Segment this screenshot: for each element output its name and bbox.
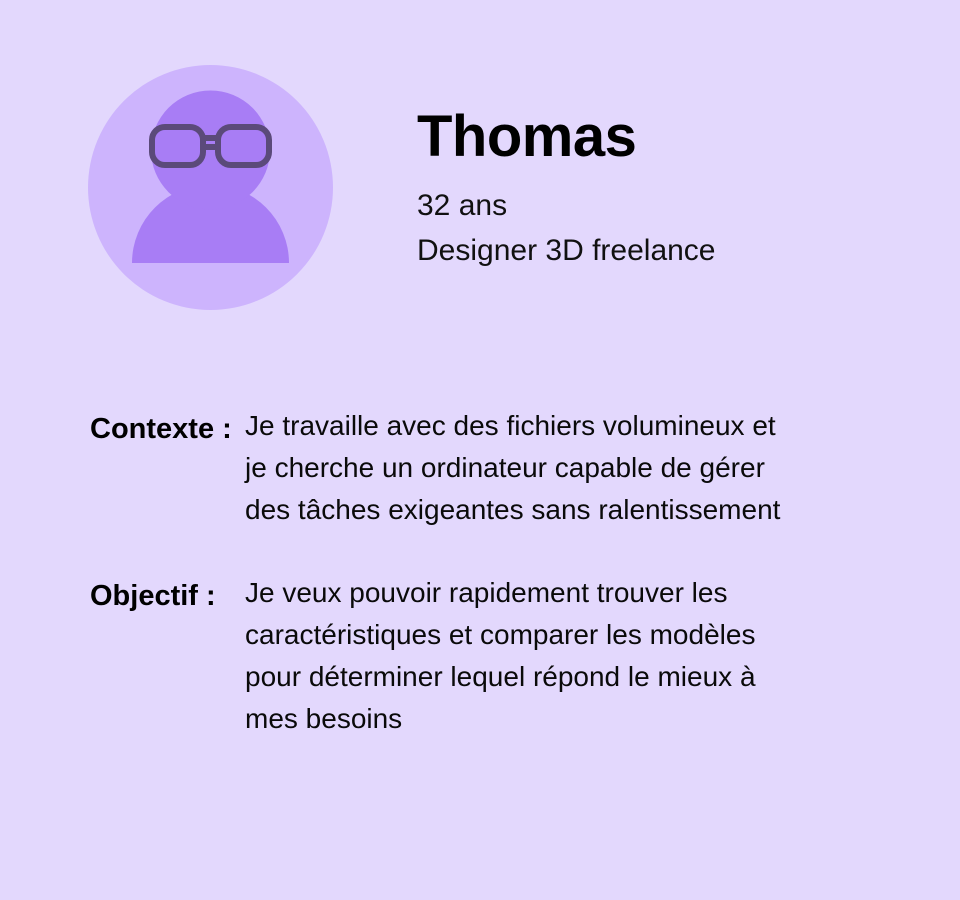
section-objectif-text: Je veux pouvoir rapidement trouver les c… [245,572,805,740]
user-with-glasses-avatar-icon [88,65,333,310]
section-objectif-label: Objectif : [0,572,245,613]
section-contexte-label: Contexte : [0,405,245,446]
section-objectif-body: Je veux pouvoir rapidement trouver les c… [245,572,805,740]
section-objectif: Objectif : Je veux pouvoir rapidement tr… [0,572,960,740]
persona-age: 32 ans [417,183,917,228]
persona-meta: 32 ans Designer 3D freelance [417,183,917,273]
section-contexte-body: Je travaille avec des fichiers volumineu… [245,405,805,531]
persona-identity: Thomas 32 ans Designer 3D freelance [417,104,917,273]
section-contexte: Contexte : Je travaille avec des fichier… [0,405,960,531]
persona-name: Thomas [417,104,917,170]
persona-role: Designer 3D freelance [417,228,917,273]
persona-sections: Contexte : Je travaille avec des fichier… [0,405,960,740]
section-contexte-text: Je travaille avec des fichiers volumineu… [245,405,805,531]
persona-header: Thomas 32 ans Designer 3D freelance [0,0,960,360]
